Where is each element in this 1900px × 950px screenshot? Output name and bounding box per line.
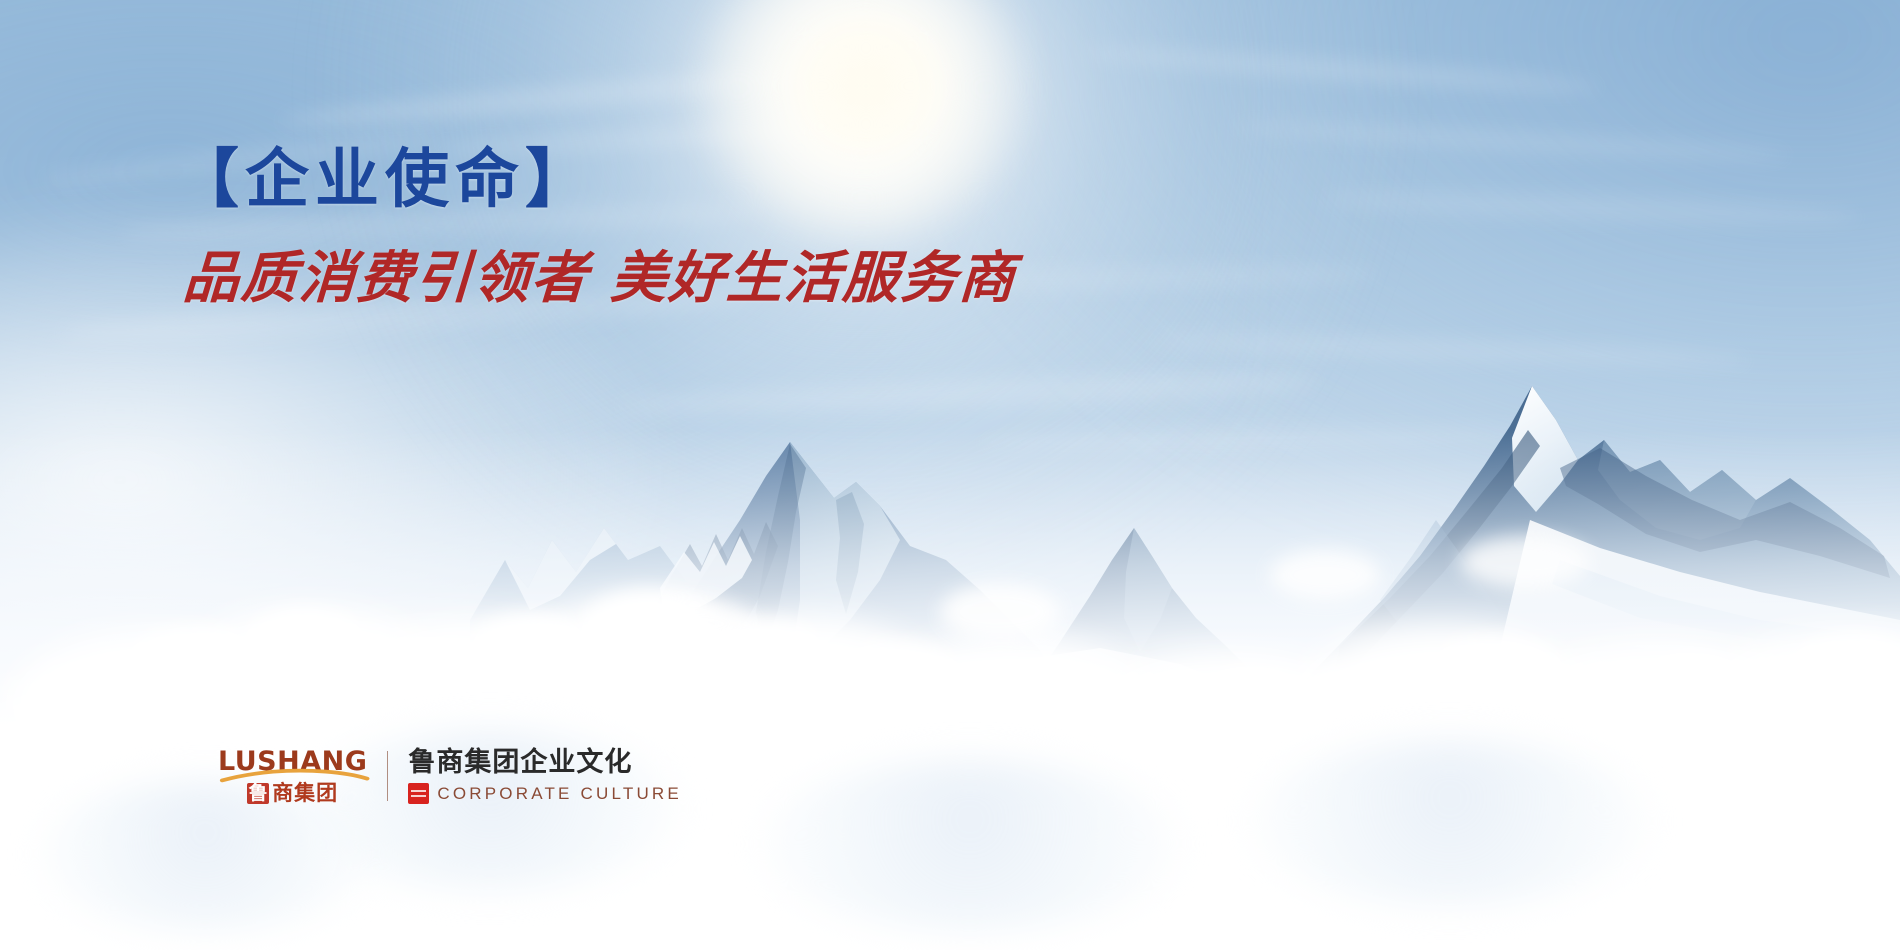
swoosh-icon bbox=[220, 769, 369, 783]
mission-slogan: 品质消费引领者 美好生活服务商 bbox=[182, 250, 1018, 306]
lushang-brand-mark: LUSHANG 鲁 商集团 bbox=[218, 748, 367, 804]
seal-stamp-icon bbox=[408, 783, 429, 804]
corporate-culture-banner: 【企业使命】 品质消费引领者 美好生活服务商 LUSHANG 鲁 商集团 鲁商集… bbox=[0, 0, 1900, 950]
lushang-chinese-wordmark: 鲁 商集团 bbox=[247, 783, 338, 804]
culture-english-row: CORPORATE CULTURE bbox=[408, 783, 682, 804]
culture-english-title: CORPORATE CULTURE bbox=[437, 785, 682, 802]
lushang-chinese-rest: 商集团 bbox=[272, 783, 338, 804]
culture-chinese-title: 鲁商集团企业文化 bbox=[408, 749, 682, 776]
mission-title: 【企业使命】 bbox=[175, 148, 1017, 212]
mission-headline-group: 【企业使命】 品质消费引领者 美好生活服务商 bbox=[175, 148, 1017, 306]
corporate-culture-block: 鲁商集团企业文化 CORPORATE CULTURE bbox=[408, 749, 682, 804]
logo-lockup: LUSHANG 鲁 商集团 鲁商集团企业文化 CORPORATE CULTURE bbox=[218, 748, 682, 804]
lushang-badge-character: 鲁 bbox=[247, 783, 269, 804]
lushang-latin-wrap: LUSHANG bbox=[218, 748, 367, 780]
lockup-divider bbox=[387, 751, 388, 801]
